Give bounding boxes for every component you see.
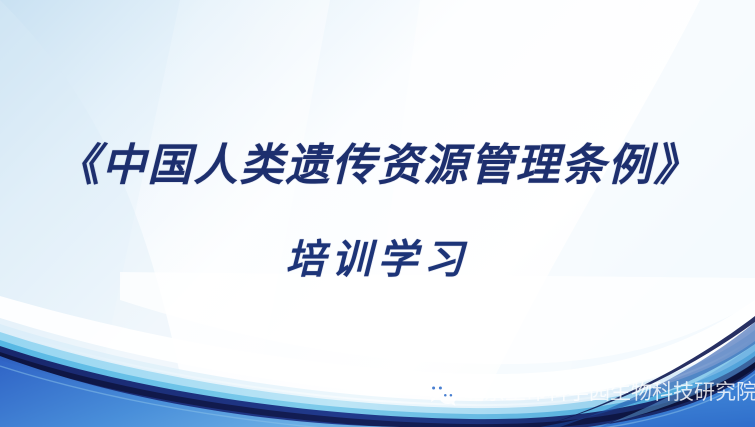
background-graphic — [0, 0, 755, 427]
wechat-icon — [425, 380, 459, 406]
watermark-text: 北京生命科学园生物科技研究院 — [463, 380, 755, 406]
slide-canvas: 《中国人类遗传资源管理条例》 培训学习 北京生命科学园生物科技研究院 — [0, 0, 755, 427]
watermark: 北京生命科学园生物科技研究院 — [425, 378, 755, 408]
